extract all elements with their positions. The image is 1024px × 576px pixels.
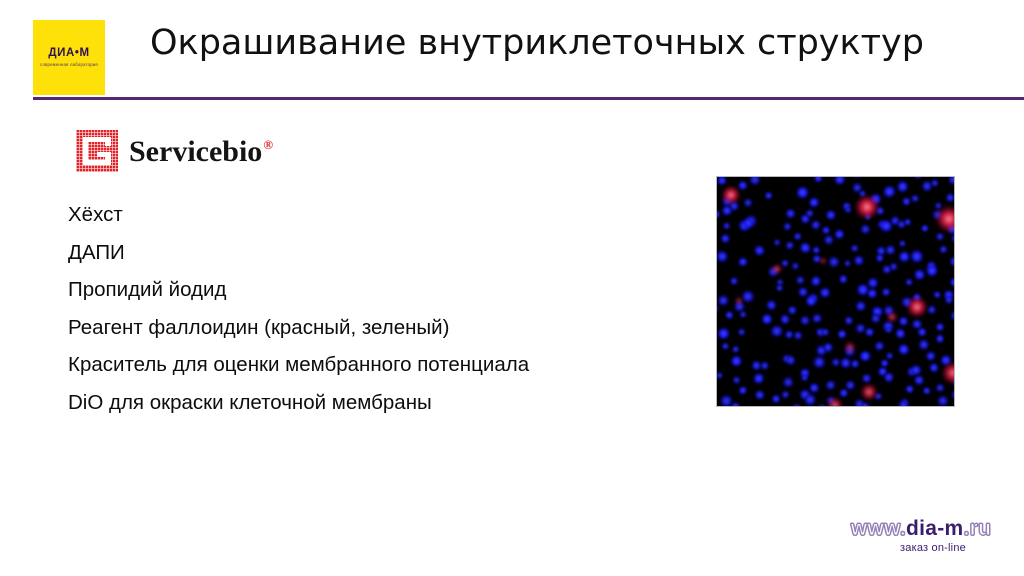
brand-logo-tagline: современная лаборатория bbox=[40, 63, 98, 67]
header-divider bbox=[33, 97, 1024, 100]
footer-url-suffix: .ru bbox=[964, 517, 992, 540]
slide-root: { "slide": { "title": "Окрашивание внутр… bbox=[0, 0, 1024, 576]
brand-logo-wordmark: ДИА•М bbox=[48, 48, 89, 60]
footer-url-prefix: www. bbox=[851, 517, 906, 540]
slide-header: ДИА•М современная лаборатория Окрашивани… bbox=[0, 0, 1024, 104]
list-item: ДАПИ bbox=[68, 234, 708, 272]
micrograph-canvas bbox=[717, 177, 954, 406]
footer-tagline: заказ on-line bbox=[860, 542, 1006, 554]
servicebio-g-glyph-icon bbox=[83, 137, 111, 165]
brand-logo: ДИА•М современная лаборатория bbox=[33, 20, 105, 95]
registered-trademark-icon: ® bbox=[263, 137, 273, 152]
footer-watermark: www.dia-m.ru заказ on-line bbox=[836, 518, 1006, 554]
partner-logo-wordmark: Servicebio® bbox=[129, 137, 272, 167]
footer-url-core: dia-m bbox=[906, 517, 964, 540]
list-item: Краситель для оценки мембранного потенци… bbox=[68, 346, 708, 384]
partner-logo-name: Servicebio bbox=[129, 135, 262, 168]
fluorescence-micrograph bbox=[716, 176, 955, 407]
product-list: Хёхст ДАПИ Пропидий йодид Реагент фаллои… bbox=[68, 196, 708, 421]
servicebio-g-mark-icon bbox=[76, 130, 118, 172]
footer-url: www.dia-m.ru bbox=[836, 518, 1006, 540]
partner-logo-servicebio: Servicebio® bbox=[76, 129, 272, 173]
page-title: Окрашивание внутриклеточных структур bbox=[150, 22, 1010, 66]
list-item: Хёхст bbox=[68, 196, 708, 234]
list-item: DiO для окраски клеточной мембраны bbox=[68, 384, 708, 422]
list-item: Реагент фаллоидин (красный, зеленый) bbox=[68, 309, 708, 347]
list-item: Пропидий йодид bbox=[68, 271, 708, 309]
